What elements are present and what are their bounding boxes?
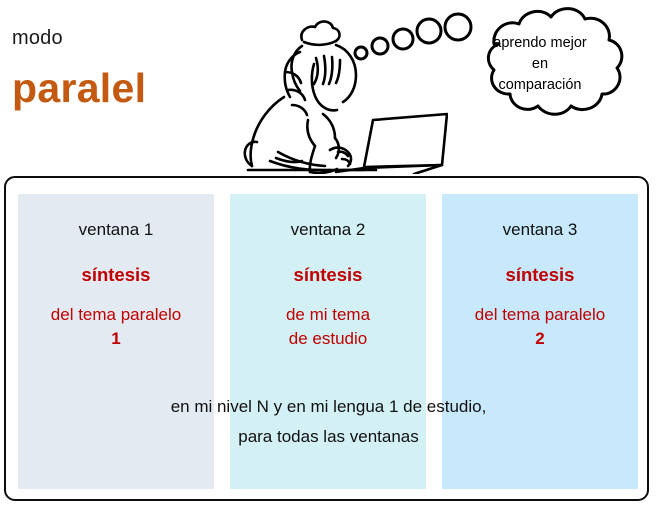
column-1-title: ventana 1 [18, 220, 214, 240]
mode-name-title: paralel [12, 65, 146, 112]
header-area: modo paralel [0, 0, 657, 175]
column-1-description: del tema paralelo 1 [18, 303, 214, 351]
column-3-desc-line-2: 2 [442, 327, 638, 351]
column-3-title: ventana 3 [442, 220, 638, 240]
column-3-keyword: síntesis [442, 264, 638, 286]
window-column-2[interactable]: ventana 2 síntesis de mi tema de estudio [230, 194, 426, 489]
column-3-desc-line-1: del tema paralelo [442, 303, 638, 327]
window-columns: ventana 1 síntesis del tema paralelo 1 v… [18, 194, 638, 489]
column-2-desc-line-1: de mi tema [230, 303, 426, 327]
column-1-desc-line-1: del tema paralelo [18, 303, 214, 327]
column-2-desc-line-2: de estudio [230, 327, 426, 351]
parallel-mode-panel: ventana 1 síntesis del tema paralelo 1 v… [4, 176, 649, 501]
thought-line-3: comparación [465, 75, 615, 96]
thought-bubble-text: aprendo mejor en comparación [465, 33, 615, 96]
window-column-1[interactable]: ventana 1 síntesis del tema paralelo 1 [18, 194, 214, 489]
column-2-title: ventana 2 [230, 220, 426, 240]
thought-line-1: aprendo mejor [465, 33, 615, 54]
column-2-keyword: síntesis [230, 264, 426, 286]
column-1-desc-line-2: 1 [18, 327, 214, 351]
thought-line-2: en [465, 54, 615, 75]
column-2-description: de mi tema de estudio [230, 303, 426, 351]
column-3-description: del tema paralelo 2 [442, 303, 638, 351]
window-column-3[interactable]: ventana 3 síntesis del tema paralelo 2 [442, 194, 638, 489]
column-1-keyword: síntesis [18, 264, 214, 286]
mode-label: modo [12, 27, 63, 50]
